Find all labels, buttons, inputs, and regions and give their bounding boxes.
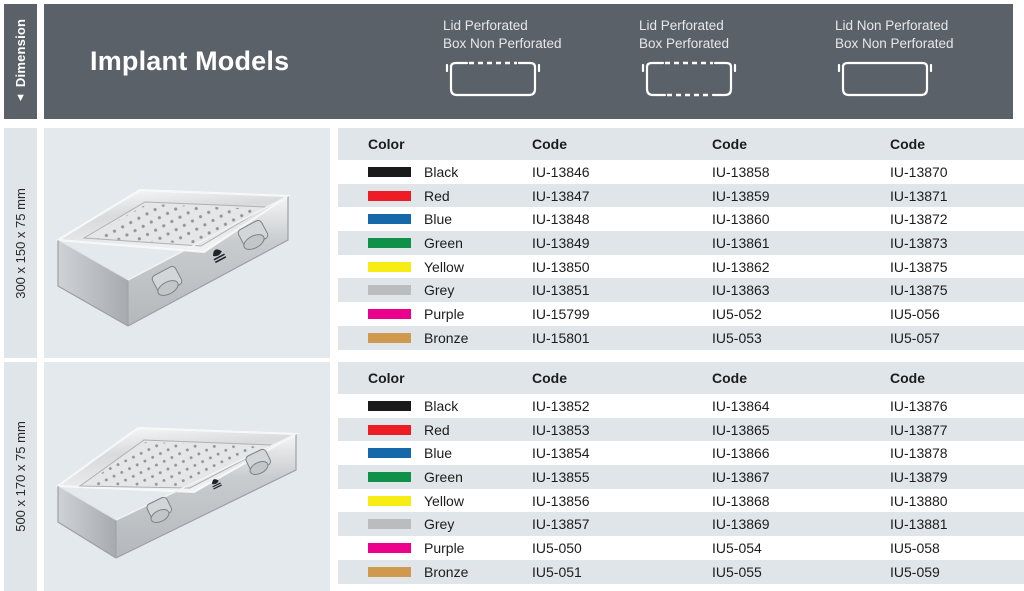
- column-header-code-1: Code: [532, 128, 712, 160]
- table-row: BronzeIU-15801IU5-053IU5-057: [338, 326, 1024, 350]
- column-header-color: Color: [338, 128, 532, 160]
- color-name: Yellow: [424, 259, 464, 275]
- table-row: GreyIU-13857IU-13869IU-13881: [338, 512, 1024, 536]
- header-column-lid-perforated-box-perforated: Lid Perforated Box Perforated: [639, 4, 817, 119]
- color-swatch: [368, 448, 411, 458]
- cell-code-2: IU-13869: [712, 512, 890, 536]
- color-swatch: [368, 519, 411, 529]
- table: Color Code Code Code BlackIU-13846IU-138…: [338, 128, 1024, 350]
- color-name: Red: [424, 422, 450, 438]
- cell-color: Black: [338, 160, 532, 184]
- color-name: Grey: [424, 516, 454, 532]
- cell-color: Green: [338, 231, 532, 255]
- color-name: Purple: [424, 540, 464, 556]
- cell-code-1: IU-13848: [532, 207, 712, 231]
- cell-code-1: IU-13853: [532, 418, 712, 442]
- table-row: PurpleIU5-050IU5-054IU5-058: [338, 536, 1024, 560]
- product-catalog-page: Dimension ▼ Implant Models Lid Perforate…: [0, 0, 1024, 591]
- box-non-perforated-icon: [835, 59, 935, 99]
- table-header-row: Color Code Code Code: [338, 362, 1024, 394]
- color-swatch: [368, 401, 411, 411]
- cell-color: Grey: [338, 512, 532, 536]
- cell-color: Grey: [338, 278, 532, 302]
- box-lid-and-box-perforated-icon: [639, 59, 739, 99]
- header-column-line1: Lid Non Perforated: [835, 17, 1013, 35]
- color-swatch: [368, 333, 411, 343]
- color-name: Red: [424, 188, 450, 204]
- cell-code-1: IU-13857: [532, 512, 712, 536]
- header-column-lid-perforated-box-non-perforated: Lid Perforated Box Non Perforated: [443, 4, 621, 119]
- cell-color: Blue: [338, 207, 532, 231]
- color-name: Black: [424, 398, 458, 414]
- cell-code-2: IU-13861: [712, 231, 890, 255]
- table-row: YellowIU-13850IU-13862IU-13875: [338, 255, 1024, 279]
- cell-color: Black: [338, 394, 532, 418]
- cell-code-3: IU-13877: [890, 418, 1024, 442]
- cell-code-2: IU-13868: [712, 489, 890, 513]
- table-row: PurpleIU-15799IU5-052IU5-056: [338, 302, 1024, 326]
- cell-code-1: IU-13850: [532, 255, 712, 279]
- cell-color: Purple: [338, 536, 532, 560]
- header-column-line1: Lid Perforated: [639, 17, 817, 35]
- cell-color: Yellow: [338, 255, 532, 279]
- header-column-line2: Box Non Perforated: [443, 35, 621, 53]
- sterilization-container-illustration: [44, 362, 330, 591]
- header-column-group: Lid Perforated Box Non Perforated Lid Pe…: [427, 4, 1013, 119]
- color-swatch: [368, 285, 411, 295]
- column-header-code-3: Code: [890, 128, 1024, 160]
- cell-color: Bronze: [338, 326, 532, 350]
- header-column-line1: Lid Perforated: [443, 17, 621, 35]
- table-row: BlackIU-13846IU-13858IU-13870: [338, 160, 1024, 184]
- cell-code-1: IU-13847: [532, 184, 712, 208]
- color-swatch: [368, 167, 411, 177]
- color-swatch: [368, 214, 411, 224]
- color-swatch: [368, 425, 411, 435]
- color-name: Grey: [424, 282, 454, 298]
- cell-code-3: IU-13873: [890, 231, 1024, 255]
- dimension-label-300: 300 x 150 x 75 mm: [4, 128, 37, 358]
- cell-code-1: IU-13849: [532, 231, 712, 255]
- page-header: Implant Models Lid Perforated Box Non Pe…: [44, 4, 1013, 119]
- cell-code-3: IU-13879: [890, 465, 1024, 489]
- cell-color: Purple: [338, 302, 532, 326]
- cell-code-2: IU-13863: [712, 278, 890, 302]
- table: Color Code Code Code BlackIU-13852IU-138…: [338, 362, 1024, 584]
- column-header-code-3: Code: [890, 362, 1024, 394]
- cell-color: Red: [338, 184, 532, 208]
- table-row: BlueIU-13854IU-13866IU-13878: [338, 441, 1024, 465]
- color-swatch: [368, 191, 411, 201]
- sterilization-container-illustration: [44, 128, 330, 358]
- color-name: Yellow: [424, 493, 464, 509]
- cell-code-1: IU-13856: [532, 489, 712, 513]
- cell-code-2: IU-13864: [712, 394, 890, 418]
- cell-code-3: IU-13881: [890, 512, 1024, 536]
- product-image-300: [44, 128, 330, 358]
- cell-code-3: IU-13878: [890, 441, 1024, 465]
- color-name: Blue: [424, 445, 452, 461]
- cell-code-3: IU-13875: [890, 255, 1024, 279]
- color-swatch: [368, 543, 411, 553]
- cell-code-1: IU-13846: [532, 160, 712, 184]
- cell-code-1: IU5-051: [532, 560, 712, 584]
- cell-code-1: IU-13855: [532, 465, 712, 489]
- cell-code-2: IU-13866: [712, 441, 890, 465]
- cell-code-3: IU-13870: [890, 160, 1024, 184]
- dimension-label-text: 300 x 150 x 75 mm: [13, 188, 28, 299]
- color-swatch: [368, 238, 411, 248]
- cell-color: Green: [338, 465, 532, 489]
- table-row: YellowIU-13856IU-13868IU-13880: [338, 489, 1024, 513]
- color-swatch: [368, 567, 411, 577]
- color-swatch: [368, 309, 411, 319]
- cell-color: Blue: [338, 441, 532, 465]
- cell-code-2: IU5-052: [712, 302, 890, 326]
- color-name: Blue: [424, 211, 452, 227]
- cell-code-1: IU-15799: [532, 302, 712, 326]
- chevron-down-icon[interactable]: ▼: [15, 93, 26, 104]
- cell-code-2: IU-13860: [712, 207, 890, 231]
- cell-code-3: IU5-056: [890, 302, 1024, 326]
- table-body: BlackIU-13852IU-13864IU-13876RedIU-13853…: [338, 394, 1024, 584]
- cell-code-2: IU-13867: [712, 465, 890, 489]
- header-column-line2: Box Perforated: [639, 35, 817, 53]
- box-lid-perforated-icon: [443, 59, 543, 99]
- cell-code-2: IU-13862: [712, 255, 890, 279]
- dimension-label-500: 500 x 170 x 75 mm: [4, 362, 37, 591]
- code-table-500: Color Code Code Code BlackIU-13852IU-138…: [338, 362, 1024, 584]
- table-row: GreyIU-13851IU-13863IU-13875: [338, 278, 1024, 302]
- table-row: BronzeIU5-051IU5-055IU5-059: [338, 560, 1024, 584]
- cell-code-3: IU-13875: [890, 278, 1024, 302]
- table-body: BlackIU-13846IU-13858IU-13870RedIU-13847…: [338, 160, 1024, 350]
- cell-code-3: IU-13880: [890, 489, 1024, 513]
- cell-code-2: IU-13858: [712, 160, 890, 184]
- cell-code-2: IU-13865: [712, 418, 890, 442]
- cell-code-3: IU5-058: [890, 536, 1024, 560]
- color-swatch: [368, 472, 411, 482]
- cell-code-1: IU-13854: [532, 441, 712, 465]
- color-name: Green: [424, 469, 463, 485]
- table-row: GreenIU-13849IU-13861IU-13873: [338, 231, 1024, 255]
- color-name: Bronze: [424, 564, 468, 580]
- cell-code-1: IU-15801: [532, 326, 712, 350]
- cell-code-3: IU-13871: [890, 184, 1024, 208]
- product-image-500: [44, 362, 330, 591]
- cell-code-3: IU-13876: [890, 394, 1024, 418]
- cell-color: Bronze: [338, 560, 532, 584]
- cell-code-2: IU5-053: [712, 326, 890, 350]
- cell-color: Red: [338, 418, 532, 442]
- cell-code-3: IU5-059: [890, 560, 1024, 584]
- table-row: BlackIU-13852IU-13864IU-13876: [338, 394, 1024, 418]
- table-row: RedIU-13847IU-13859IU-13871: [338, 184, 1024, 208]
- cell-code-1: IU-13852: [532, 394, 712, 418]
- column-header-color: Color: [338, 362, 532, 394]
- page-title: Implant Models: [44, 4, 427, 119]
- header-column-lid-non-perforated-box-non-perforated: Lid Non Perforated Box Non Perforated: [835, 4, 1013, 119]
- color-swatch: [368, 262, 411, 272]
- column-header-code-1: Code: [532, 362, 712, 394]
- dimension-tab[interactable]: Dimension ▼: [4, 4, 37, 119]
- color-name: Bronze: [424, 330, 468, 346]
- color-swatch: [368, 496, 411, 506]
- cell-color: Yellow: [338, 489, 532, 513]
- table-row: GreenIU-13855IU-13867IU-13879: [338, 465, 1024, 489]
- table-header-row: Color Code Code Code: [338, 128, 1024, 160]
- dimension-label-text: 500 x 170 x 75 mm: [13, 421, 28, 532]
- header-column-line2: Box Non Perforated: [835, 35, 1013, 53]
- cell-code-3: IU-13872: [890, 207, 1024, 231]
- table-row: RedIU-13853IU-13865IU-13877: [338, 418, 1024, 442]
- cell-code-1: IU-13851: [532, 278, 712, 302]
- dimension-tab-label: Dimension: [13, 19, 28, 87]
- dimension-tab-inner: Dimension ▼: [13, 19, 28, 104]
- column-header-code-2: Code: [712, 362, 890, 394]
- cell-code-2: IU5-054: [712, 536, 890, 560]
- cell-code-3: IU5-057: [890, 326, 1024, 350]
- color-name: Black: [424, 164, 458, 180]
- color-name: Purple: [424, 306, 464, 322]
- cell-code-2: IU-13859: [712, 184, 890, 208]
- cell-code-1: IU5-050: [532, 536, 712, 560]
- table-row: BlueIU-13848IU-13860IU-13872: [338, 207, 1024, 231]
- code-table-300: Color Code Code Code BlackIU-13846IU-138…: [338, 128, 1024, 350]
- column-header-code-2: Code: [712, 128, 890, 160]
- cell-code-2: IU5-055: [712, 560, 890, 584]
- color-name: Green: [424, 235, 463, 251]
